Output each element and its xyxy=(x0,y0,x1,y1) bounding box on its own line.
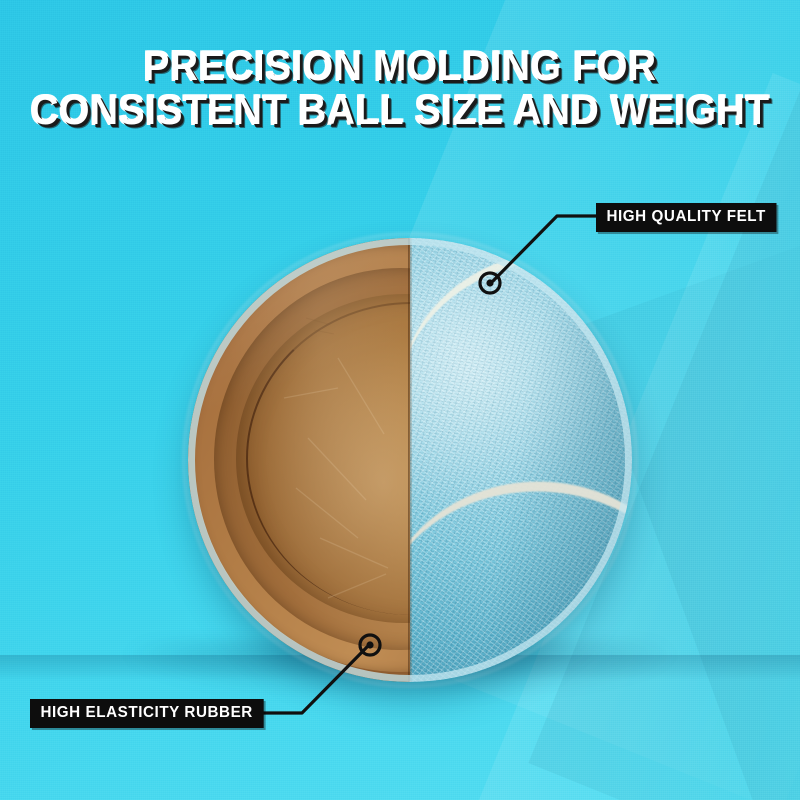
rubber-core-cutaway xyxy=(188,238,410,682)
ball-body xyxy=(188,238,632,682)
cut-plane-edge xyxy=(408,238,412,682)
tennis-ball-cutaway xyxy=(188,238,632,682)
page-title: PRECISION MOLDING FOR CONSISTENT BALL SI… xyxy=(28,44,772,132)
felt-shading xyxy=(410,238,632,682)
callout-label-felt[interactable]: HIGH QUALITY FELT xyxy=(596,203,776,232)
infographic-canvas: PRECISION MOLDING FOR CONSISTENT BALL SI… xyxy=(0,0,800,800)
callout-label-rubber[interactable]: HIGH ELASTICITY RUBBER xyxy=(30,699,263,728)
rubber-gloss-highlight xyxy=(188,238,410,682)
felt-surface xyxy=(410,238,632,682)
